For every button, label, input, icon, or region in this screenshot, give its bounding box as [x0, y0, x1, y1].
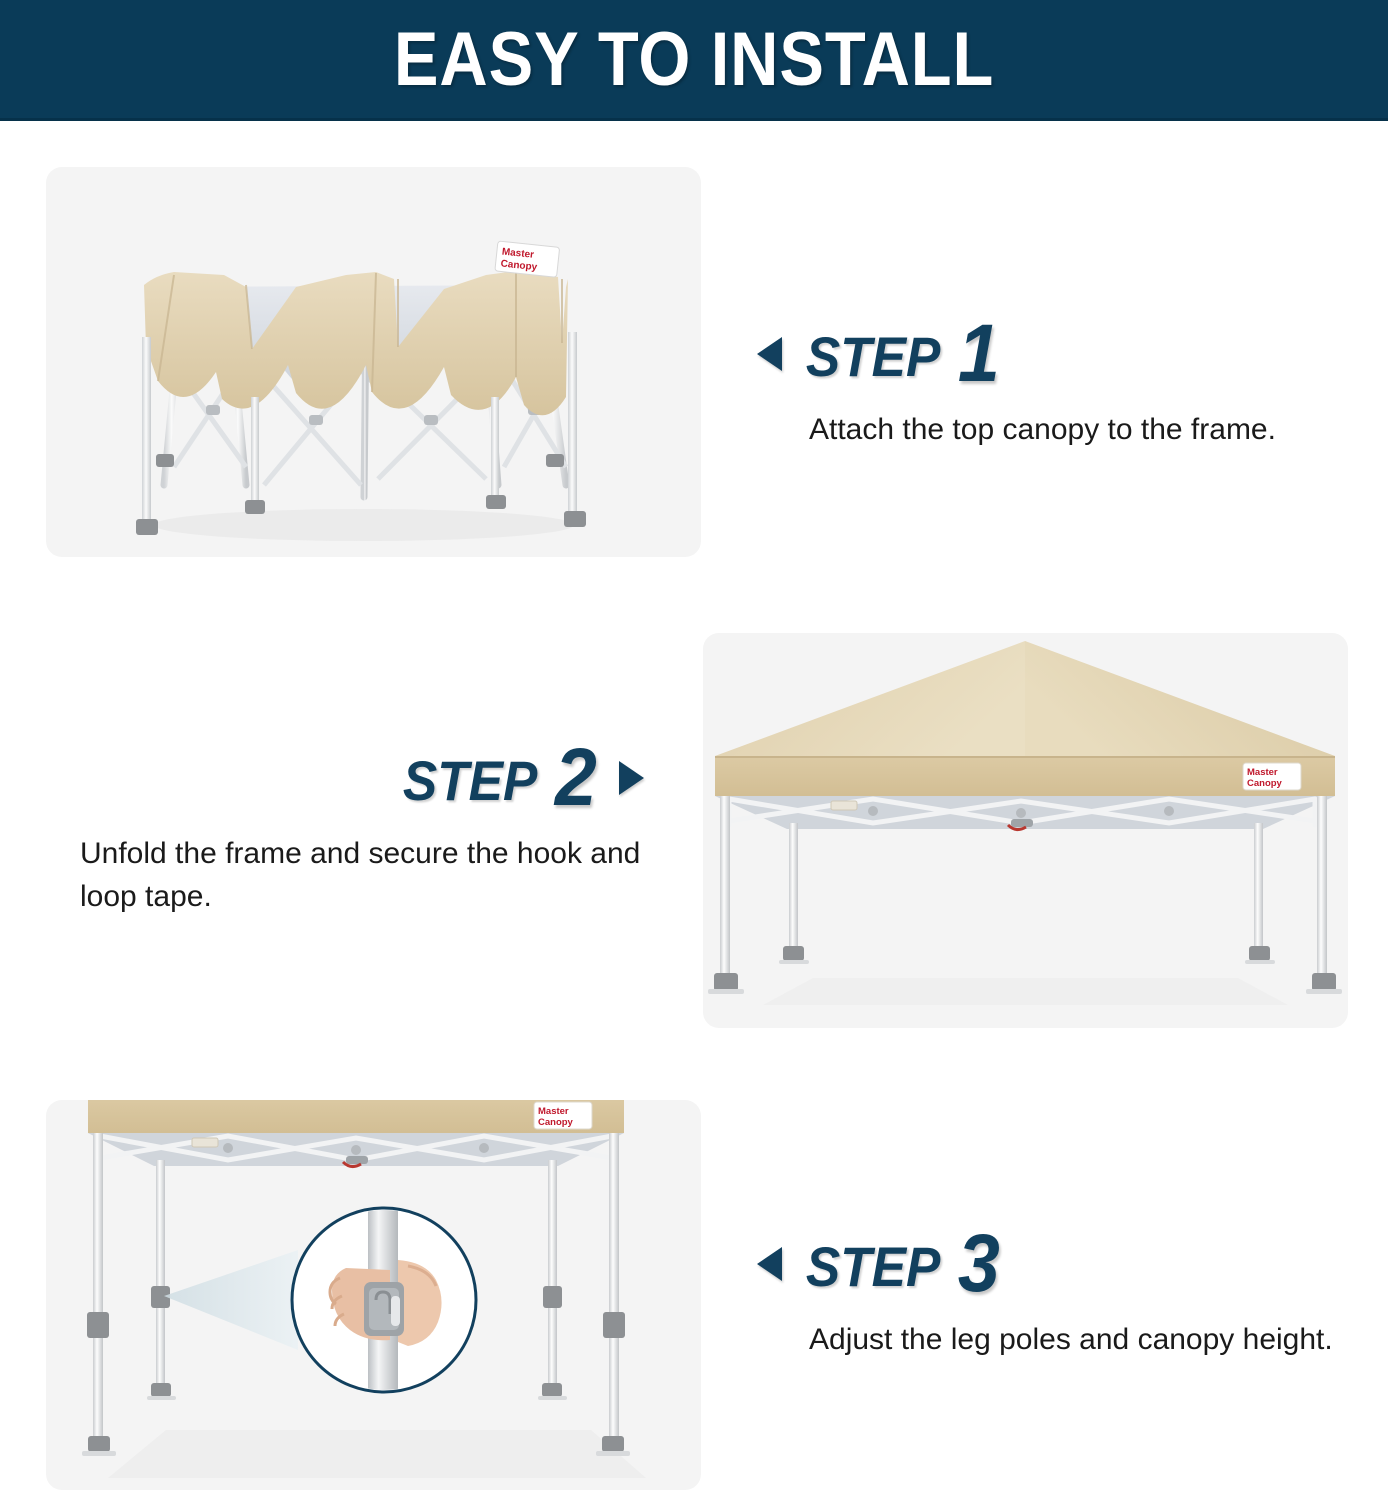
- step-1-number: 1: [958, 320, 1000, 387]
- step-1-label: STEP: [806, 329, 941, 385]
- step-2-heading: STEP 2: [78, 742, 658, 809]
- truss-label: [192, 1138, 218, 1147]
- step-3-text-block: STEP 3 Adjust the leg poles and canopy h…: [757, 1228, 1357, 1362]
- folded-canopy-illustration: Master Canopy: [46, 167, 701, 557]
- step-3-heading: STEP 3: [757, 1228, 1357, 1295]
- brand-logo-tag: Master Canopy: [1243, 763, 1301, 790]
- canopy-top-fabric: [144, 271, 568, 415]
- brand-logo-tag: Master Canopy: [534, 1102, 592, 1129]
- step-3-label: STEP: [806, 1239, 941, 1295]
- ground-shadow: [763, 978, 1288, 1005]
- assembled-canopy-illustration: Master Canopy: [703, 633, 1348, 1028]
- step-3-image-panel: Master Canopy: [46, 1100, 701, 1490]
- logo-text-bottom: Canopy: [1247, 778, 1283, 789]
- step-1-description: Attach the top canopy to the frame.: [757, 409, 1317, 452]
- step-2-description: Unfold the frame and secure the hook and…: [78, 833, 658, 918]
- callout-connector-cone: [164, 1250, 298, 1350]
- step-1-heading: STEP 1: [757, 318, 1317, 385]
- step-3-description: Adjust the leg poles and canopy height.: [757, 1319, 1357, 1362]
- leg-slider-button: [364, 1282, 404, 1336]
- brand-logo-tag: Master Canopy: [495, 241, 560, 277]
- roof-left-slope: [715, 641, 1025, 756]
- truss-label: [831, 801, 857, 810]
- arrow-left-icon: [757, 1247, 782, 1281]
- arrow-right-icon: [619, 761, 644, 795]
- ground-shadow: [154, 509, 574, 541]
- step-2-label: STEP: [403, 753, 538, 809]
- step-1-image-panel: Master Canopy: [46, 167, 701, 557]
- logo-text-bottom: Canopy: [538, 1117, 574, 1128]
- arrow-left-icon: [757, 337, 782, 371]
- step-2-text-block: STEP 2 Unfold the frame and secure the h…: [78, 742, 658, 918]
- page-header-banner: EASY TO INSTALL: [0, 0, 1388, 121]
- step-3-number: 3: [958, 1230, 1000, 1297]
- step-2-number: 2: [555, 744, 597, 811]
- step-1-text-block: STEP 1 Attach the top canopy to the fram…: [757, 318, 1317, 452]
- height-adjust-canopy-illustration: Master Canopy: [46, 1100, 701, 1490]
- ground-shadow: [108, 1430, 646, 1478]
- valance-band: [715, 756, 1335, 796]
- height-adjust-callout: [292, 1200, 476, 1400]
- logo-text-top: Master: [538, 1106, 569, 1117]
- roof-right-slope: [1025, 641, 1335, 756]
- logo-text-top: Master: [1247, 767, 1278, 778]
- page-title: EASY TO INSTALL: [394, 16, 994, 103]
- step-2-image-panel: Master Canopy: [703, 633, 1348, 1028]
